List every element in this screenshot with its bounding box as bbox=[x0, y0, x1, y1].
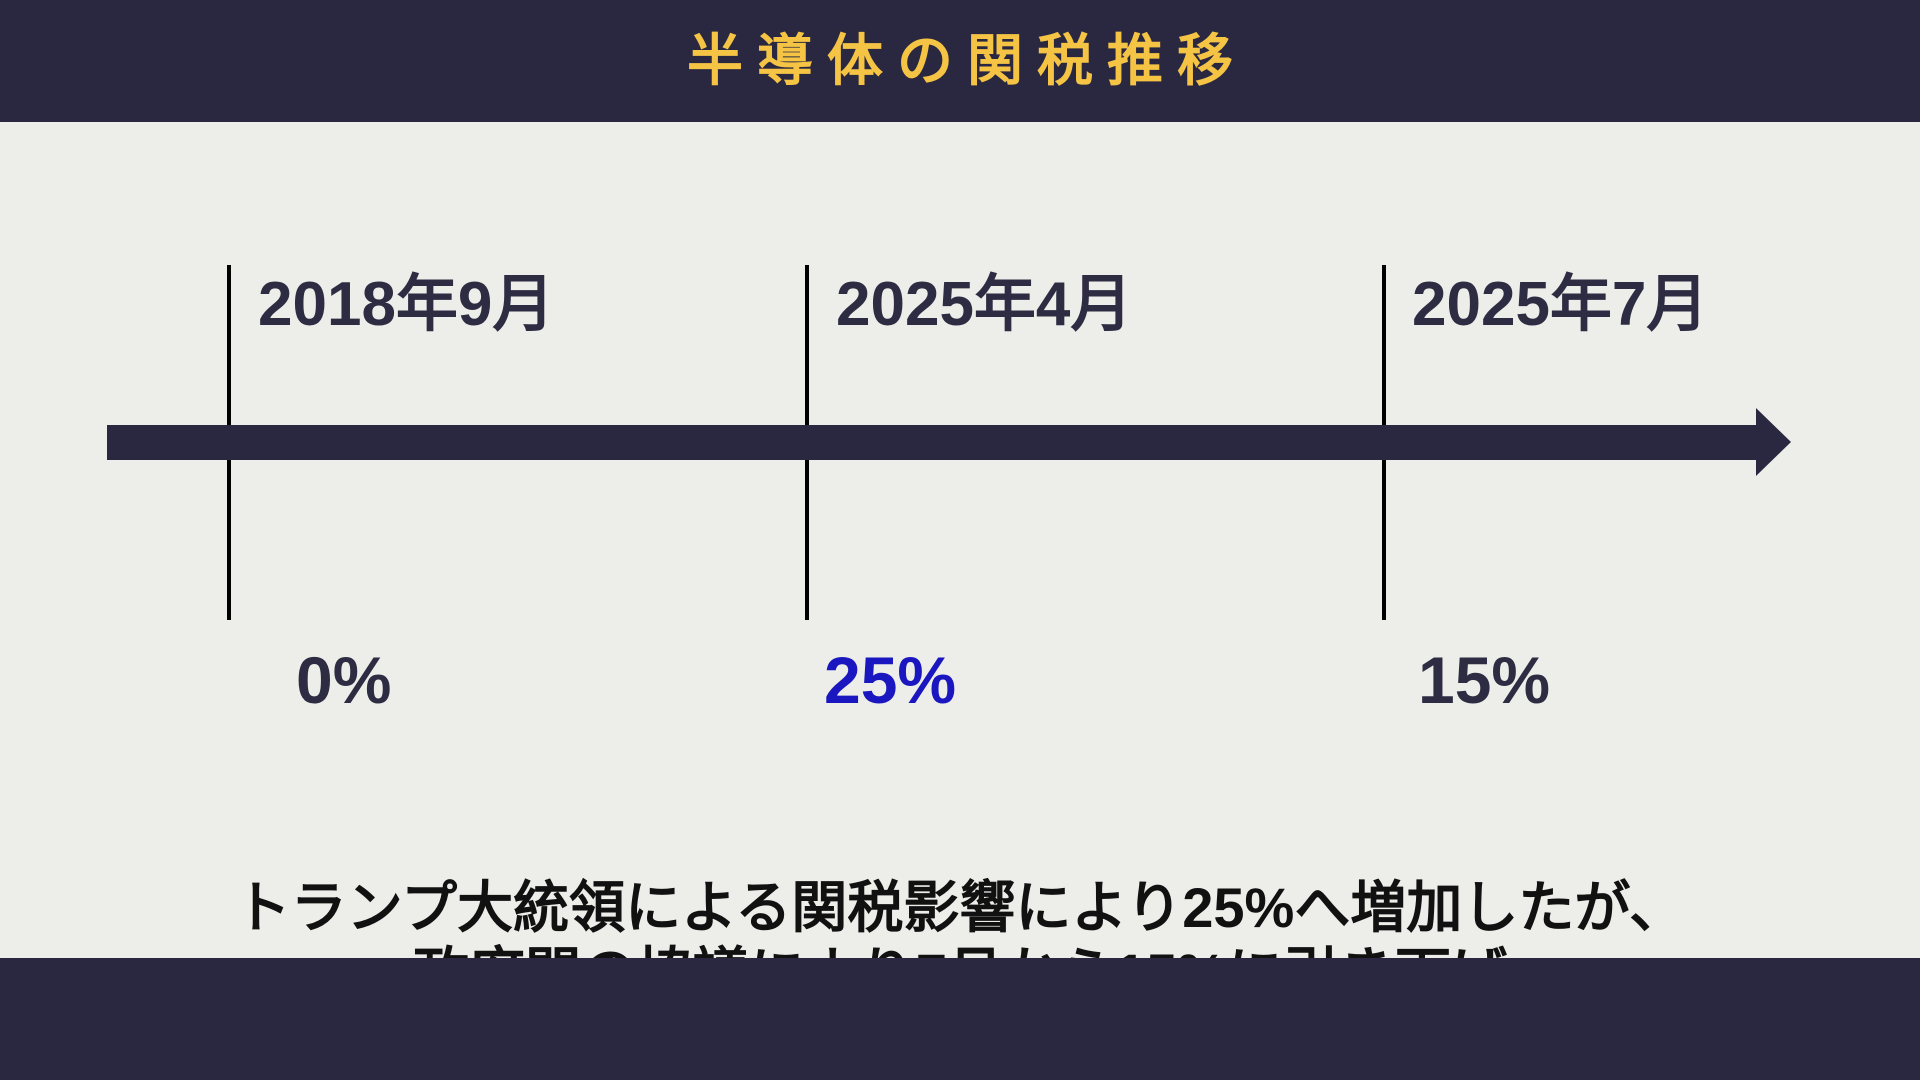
timeline-diagram: 2018年9月 2025年4月 2025年7月 0% 25% 15% トランプ大… bbox=[0, 122, 1920, 958]
header-bar: 半導体の関税推移 bbox=[0, 0, 1920, 122]
milestone-date-1: 2018年9月 bbox=[258, 274, 554, 336]
footer-bar bbox=[0, 958, 1920, 1080]
milestone-date-2: 2025年4月 bbox=[836, 274, 1132, 336]
milestone-value-2: 25% bbox=[824, 647, 956, 713]
arrow-right-icon bbox=[1756, 408, 1791, 476]
caption-line-1: トランプ大統領による関税影響により25%へ増加したが、 bbox=[0, 875, 1920, 941]
page-title: 半導体の関税推移 bbox=[673, 33, 1247, 89]
milestone-date-3: 2025年7月 bbox=[1412, 274, 1708, 336]
milestone-value-3: 15% bbox=[1418, 647, 1550, 713]
slide-canvas: 半導体の関税推移 2018年9月 2025年4月 2025年7月 0% 25% … bbox=[0, 0, 1920, 1080]
milestone-value-1: 0% bbox=[296, 647, 391, 713]
timeline-axis-bar bbox=[107, 425, 1756, 460]
